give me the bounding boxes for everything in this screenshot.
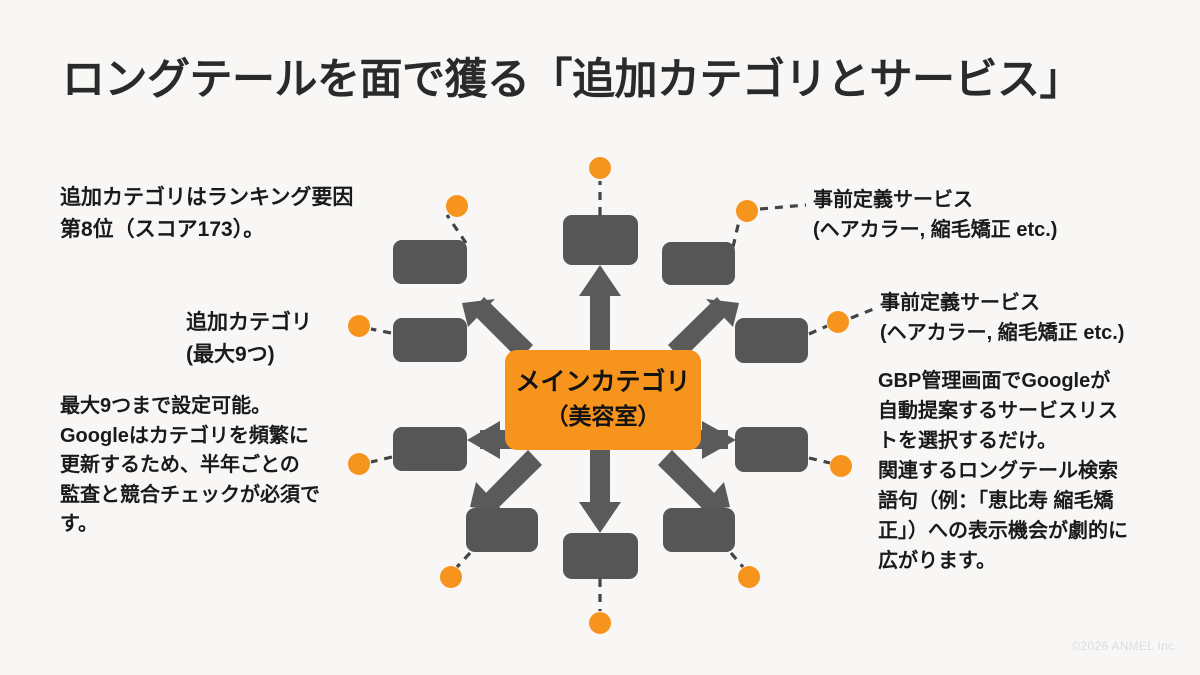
dashed-connector xyxy=(371,329,391,333)
dashed-connector xyxy=(809,458,830,463)
spoke-node-bottom-right-diag[interactable] xyxy=(663,508,735,552)
spoke-node-bottom[interactable] xyxy=(563,533,638,579)
slide-canvas: ロングテールを面で獲る「追加カテゴリとサービス」 追加カテゴリはランキング要因 … xyxy=(0,0,1200,675)
orange-dot[interactable] xyxy=(827,311,849,333)
spoke-node-left[interactable] xyxy=(393,318,467,362)
dashed-connector-label xyxy=(760,205,806,209)
dashed-connector xyxy=(447,215,466,243)
orange-dot[interactable] xyxy=(440,566,462,588)
orange-dot[interactable] xyxy=(348,453,370,475)
dashed-connector xyxy=(731,553,743,567)
copyright-footer: ©2026 ANMEL Inc. xyxy=(1071,639,1178,653)
spoke-node-top[interactable] xyxy=(563,215,638,265)
dashed-connector xyxy=(457,553,470,567)
arrow-down-right xyxy=(658,450,730,512)
radial-category-diagram: メインカテゴリ （美容室） xyxy=(0,0,1200,675)
spoke-node-bottom-left-diag[interactable] xyxy=(466,508,538,552)
dashed-connector xyxy=(371,457,392,462)
spoke-node-right[interactable] xyxy=(735,318,808,363)
dashed-connector xyxy=(733,221,739,247)
spoke-node-bottom-left[interactable] xyxy=(393,427,467,471)
spoke-node-top-left[interactable] xyxy=(393,240,467,284)
orange-dot[interactable] xyxy=(446,195,468,217)
center-node-label-line1: メインカテゴリ xyxy=(515,367,690,396)
orange-dot[interactable] xyxy=(589,612,611,634)
center-node-box[interactable] xyxy=(505,350,701,450)
center-node-label-line2: （美容室） xyxy=(546,403,661,429)
spoke-node-top-right[interactable] xyxy=(662,242,735,285)
dashed-connector xyxy=(809,326,827,334)
arrow-down xyxy=(579,440,621,533)
arrow-up xyxy=(579,265,621,362)
orange-dot[interactable] xyxy=(589,157,611,179)
orange-dot[interactable] xyxy=(830,455,852,477)
center-node[interactable]: メインカテゴリ （美容室） xyxy=(505,350,701,450)
spoke-node-bottom-right[interactable] xyxy=(735,427,808,472)
orange-dot[interactable] xyxy=(736,200,758,222)
orange-dot[interactable] xyxy=(738,566,760,588)
orange-dot[interactable] xyxy=(348,315,370,337)
arrow-down-left xyxy=(470,450,542,512)
dashed-connector-label xyxy=(851,308,876,318)
